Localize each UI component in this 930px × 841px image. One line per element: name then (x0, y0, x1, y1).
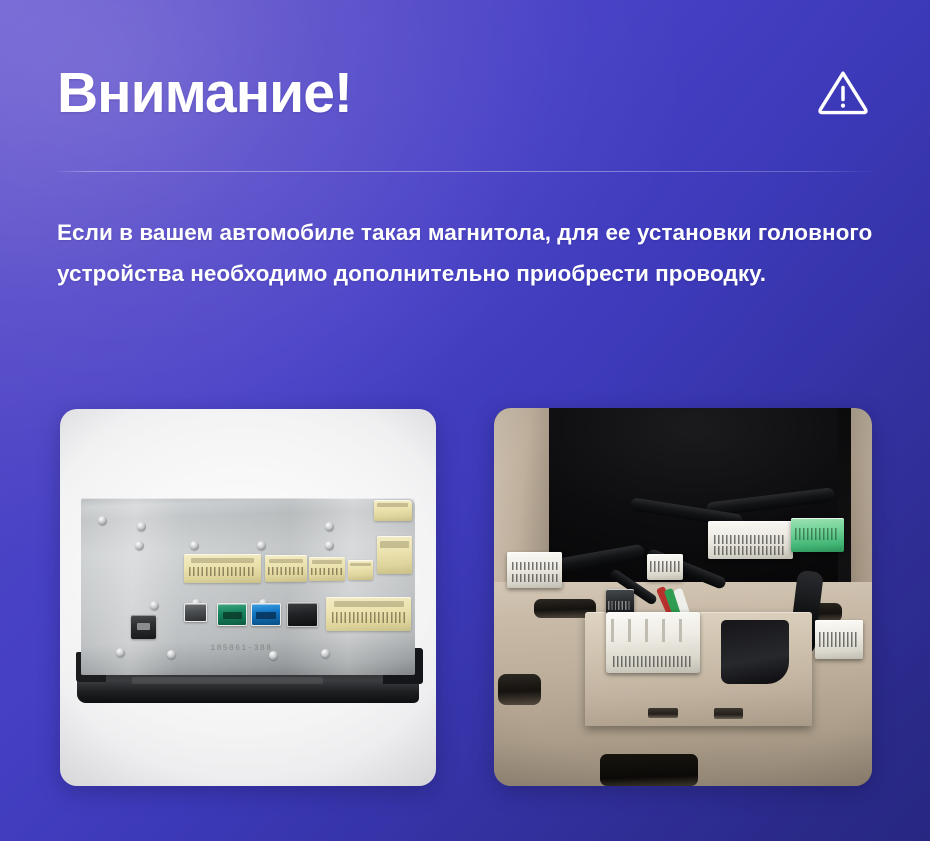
connector-black-large (131, 615, 156, 639)
connector-green (217, 603, 247, 626)
harness-connector-black (606, 589, 634, 614)
harness-connector-green (791, 518, 844, 552)
chassis-screw (325, 541, 334, 550)
dash-harness-photo[interactable] (494, 408, 872, 786)
photo-canvas-left: 185861-388 (60, 409, 436, 786)
dashboard-vent-slot (600, 754, 698, 786)
warning-body-text: Если в вашем автомобиле такая магнитола,… (57, 212, 887, 294)
connector-cream (309, 557, 345, 580)
harness-connector-white (708, 521, 793, 559)
chassis-screw (190, 541, 199, 550)
connector-cream (184, 554, 261, 583)
warning-triangle-icon (817, 67, 869, 119)
connector-black (287, 602, 318, 626)
header-divider (57, 171, 872, 172)
harness-connector-white (507, 552, 562, 588)
head-unit-rear-photo[interactable]: 185861-388 (60, 409, 436, 786)
connector-grey (184, 603, 207, 622)
harness-connector-white-large (606, 612, 701, 672)
page-title: Внимание! (57, 65, 352, 122)
header: Внимание! (57, 58, 871, 128)
tray-slot (714, 708, 743, 718)
dashboard-vent-slot (498, 674, 541, 704)
tray-opening (721, 620, 789, 683)
connector-blue (251, 603, 281, 626)
connector-cream (377, 536, 412, 574)
harness-connector-white (815, 620, 862, 660)
connector-cream (326, 597, 411, 631)
harness-connector-white (647, 554, 683, 580)
connector-cream (265, 555, 306, 581)
tray-slot (648, 708, 677, 718)
photo-canvas-right (494, 408, 872, 786)
connector-cream (374, 500, 412, 521)
connector-cream (348, 560, 374, 580)
head-unit-part-number: 185861-388 (210, 644, 272, 653)
